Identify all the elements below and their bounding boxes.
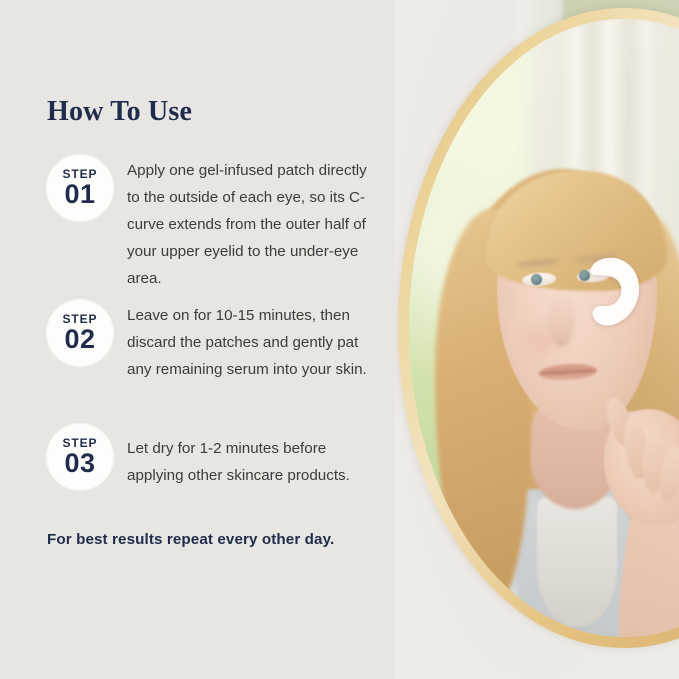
footer-note: For best results repeat every other day. xyxy=(47,531,334,548)
instructions-panel: How To Use STEP 01 Apply one gel-infused… xyxy=(0,0,400,679)
step-item-1: STEP 01 Apply one gel-infused patch dire… xyxy=(47,155,383,292)
step-item-3: STEP 03 Let dry for 1-2 minutes before a… xyxy=(47,424,383,490)
page-title: How To Use xyxy=(47,96,192,128)
step-item-2: STEP 02 Leave on for 10-15 minutes, then… xyxy=(47,300,383,383)
step-description-3: Let dry for 1-2 minutes before applying … xyxy=(127,424,383,489)
step-badge-2: STEP 02 xyxy=(47,300,113,366)
iris-left xyxy=(531,274,542,285)
step-description-2: Leave on for 10-15 minutes, then discard… xyxy=(127,300,383,383)
step-description-1: Apply one gel-infused patch directly to … xyxy=(127,155,383,292)
how-to-use-panel: How To Use STEP 01 Apply one gel-infused… xyxy=(0,0,679,679)
step-badge-number: 01 xyxy=(64,181,95,208)
round-mirror-frame xyxy=(398,8,679,648)
inner-top xyxy=(537,497,617,627)
nose xyxy=(549,291,575,347)
c-curve-eye-patch xyxy=(585,255,643,329)
step-badge-3: STEP 03 xyxy=(47,424,113,490)
step-badge-number: 03 xyxy=(64,450,95,477)
step-badge-1: STEP 01 xyxy=(47,155,113,221)
product-usage-photo xyxy=(395,0,679,679)
step-badge-number: 02 xyxy=(64,326,95,353)
mirror-reflection xyxy=(409,19,679,637)
mirror-glass xyxy=(409,19,679,637)
